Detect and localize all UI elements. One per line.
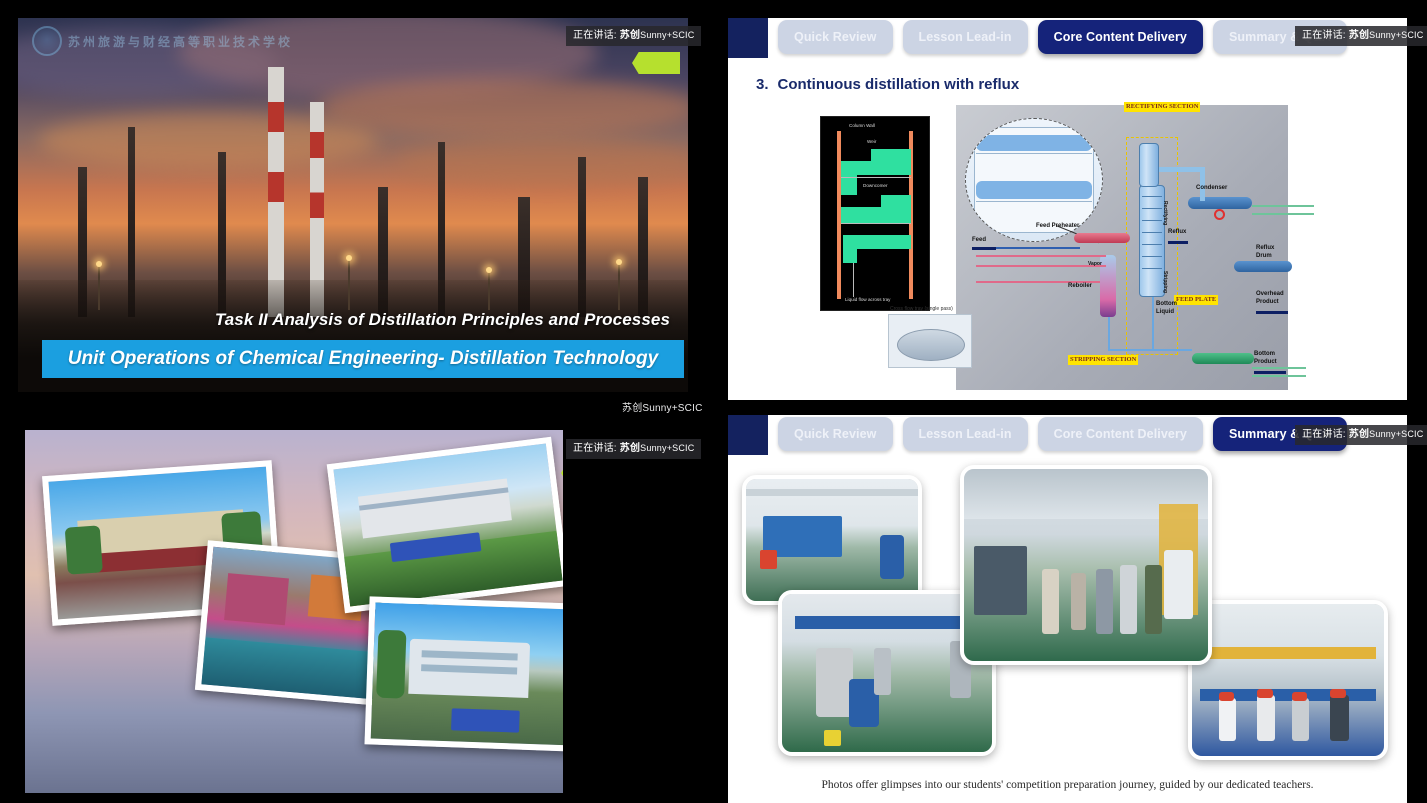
speaking-badge-2: 正在讲话: 苏创Sunny+SCIC bbox=[566, 439, 701, 459]
heading-number: 3. bbox=[756, 76, 769, 93]
label-reboiler: Reboiler bbox=[1068, 283, 1092, 291]
label-overhead-product: Overhead Product bbox=[1256, 291, 1294, 306]
speaking-name-3: 苏创 bbox=[1349, 30, 1369, 41]
cross-flow-tray-figure: Column Wall Weir Downcomer Liquid flow a… bbox=[820, 116, 930, 311]
slide-title-background: 苏州旅游与财经高等职业技术学校 Task II Analysis of Dist… bbox=[18, 18, 688, 392]
highlight-stripping-section: STRIPPING SECTION bbox=[1068, 355, 1138, 365]
speaking-name-4: 苏创 bbox=[1349, 429, 1369, 440]
tray-label-downcomer: Downcomer bbox=[863, 183, 888, 188]
condenser-unit bbox=[1188, 197, 1252, 209]
column-top-section bbox=[1139, 143, 1159, 187]
slide-canvas-summary: Quick Review Lesson Lead-in Core Content… bbox=[728, 415, 1407, 803]
cross-flow-tray-photo bbox=[888, 314, 972, 368]
speaking-badge-3: 正在讲话: 苏创Sunny+SCIC bbox=[1295, 26, 1427, 46]
label-reflux: Reflux bbox=[1168, 229, 1186, 237]
tray-photo-caption: Cross flow tray (single pass) bbox=[890, 306, 953, 312]
campus-photo-building bbox=[327, 437, 563, 613]
slide-main-title-band: Unit Operations of Chemical Engineering-… bbox=[42, 340, 684, 378]
bottom-exchanger-unit bbox=[1192, 353, 1254, 364]
header-nav-block-2 bbox=[728, 415, 768, 455]
label-rectifying: Rectifying bbox=[1161, 201, 1169, 225]
shared-slide-core-content[interactable]: Quick Review Lesson Lead-in Core Content… bbox=[728, 18, 1407, 400]
tab-lesson-lead-in[interactable]: Lesson Lead-in bbox=[903, 20, 1028, 54]
speaking-badge-4: 正在讲话: 苏创Sunny+SCIC bbox=[1295, 425, 1427, 445]
speaking-badge-1: 正在讲话: 苏创Sunny+SCIC bbox=[566, 26, 701, 46]
participant-name-caption: 苏创Sunny+SCIC bbox=[622, 399, 703, 414]
tab-core-content-delivery[interactable]: Core Content Delivery bbox=[1038, 20, 1203, 54]
tab-lesson-lead-in-2[interactable]: Lesson Lead-in bbox=[903, 417, 1028, 451]
tab-quick-review[interactable]: Quick Review bbox=[778, 20, 893, 54]
summary-photo-4 bbox=[1188, 600, 1388, 760]
label-stripping: Stripping bbox=[1161, 271, 1169, 293]
tray-label-weir: Weir bbox=[867, 139, 876, 144]
label-bottom-product: Bottom Product bbox=[1254, 351, 1292, 366]
speaking-prefix-4: 正在讲话: bbox=[1302, 429, 1346, 440]
summary-photo-2 bbox=[960, 465, 1212, 665]
speaking-suffix-4: Sunny+SCIC bbox=[1369, 429, 1423, 439]
speaking-name-1: 苏创 bbox=[620, 30, 640, 41]
next-arrow-icon[interactable] bbox=[632, 52, 680, 74]
tab-core-content-delivery-2[interactable]: Core Content Delivery bbox=[1038, 417, 1203, 451]
valve-icon bbox=[1214, 209, 1225, 220]
feed-preheater-unit bbox=[1074, 233, 1130, 243]
shared-slide-summary[interactable]: Quick Review Lesson Lead-in Core Content… bbox=[728, 415, 1407, 803]
slide-subtitle: Task II Analysis of Distillation Princip… bbox=[18, 310, 678, 330]
distillation-flow-figure: RECTIFYING SECTION FEED PLATE STRIPPING … bbox=[956, 105, 1288, 390]
slide-tabs-core[interactable]: Quick Review Lesson Lead-in Core Content… bbox=[778, 20, 1347, 54]
summary-caption: Photos offer glimpses into our students'… bbox=[728, 779, 1407, 791]
school-logo-watermark: 苏州旅游与财经高等职业技术学校 bbox=[32, 26, 293, 56]
tray-label-liquid-flow: Liquid flow across tray bbox=[845, 297, 890, 302]
logo-text: 苏州旅游与财经高等职业技术学校 bbox=[68, 33, 293, 50]
speaking-prefix-2: 正在讲话: bbox=[573, 443, 617, 454]
speaking-suffix-3: Sunny+SCIC bbox=[1369, 30, 1423, 40]
slide-canvas-core: Quick Review Lesson Lead-in Core Content… bbox=[728, 18, 1407, 400]
tab-quick-review-2[interactable]: Quick Review bbox=[778, 417, 893, 451]
tray-zoom-circle bbox=[965, 118, 1103, 242]
meeting-gallery-view: 苏州旅游与财经高等职业技术学校 Task II Analysis of Dist… bbox=[0, 0, 1427, 803]
label-feed-preheater: Feed Preheater bbox=[1036, 223, 1079, 231]
label-bottom-liquid: Bottom Liquid bbox=[1156, 301, 1184, 316]
speaking-name-2: 苏创 bbox=[620, 443, 640, 454]
reflux-drum-unit bbox=[1234, 261, 1292, 272]
slide-heading-core: 3.Continuous distillation with reflux bbox=[756, 76, 1019, 93]
header-nav-block bbox=[728, 18, 768, 58]
speaking-prefix-3: 正在讲话: bbox=[1302, 30, 1346, 41]
speaking-suffix-1: Sunny+SCIC bbox=[640, 30, 694, 40]
tray-label-column-wall: Column Wall bbox=[849, 123, 875, 128]
campus-photo-library bbox=[364, 596, 563, 751]
speaking-prefix-1: 正在讲话: bbox=[573, 30, 617, 41]
highlight-rectifying-section: RECTIFYING SECTION bbox=[1124, 102, 1200, 112]
speaking-suffix-2: Sunny+SCIC bbox=[640, 443, 694, 453]
label-reflux-drum: Reflux Drum bbox=[1256, 245, 1288, 260]
video-tile-title-slide[interactable]: 苏州旅游与财经高等职业技术学校 Task II Analysis of Dist… bbox=[18, 18, 688, 392]
heading-text: Continuous distillation with reflux bbox=[778, 76, 1020, 93]
logo-ring-icon bbox=[32, 26, 62, 56]
label-feed: Feed bbox=[972, 237, 986, 245]
summary-photo-1 bbox=[742, 475, 922, 605]
label-vapor: Vapor bbox=[1088, 261, 1102, 269]
campus-slide-background bbox=[25, 430, 563, 793]
slide-main-title: Unit Operations of Chemical Engineering-… bbox=[68, 348, 658, 370]
label-condenser: Condenser bbox=[1196, 185, 1227, 193]
video-tile-campus-slide[interactable] bbox=[25, 430, 563, 793]
slide-tabs-summary[interactable]: Quick Review Lesson Lead-in Core Content… bbox=[778, 417, 1347, 451]
